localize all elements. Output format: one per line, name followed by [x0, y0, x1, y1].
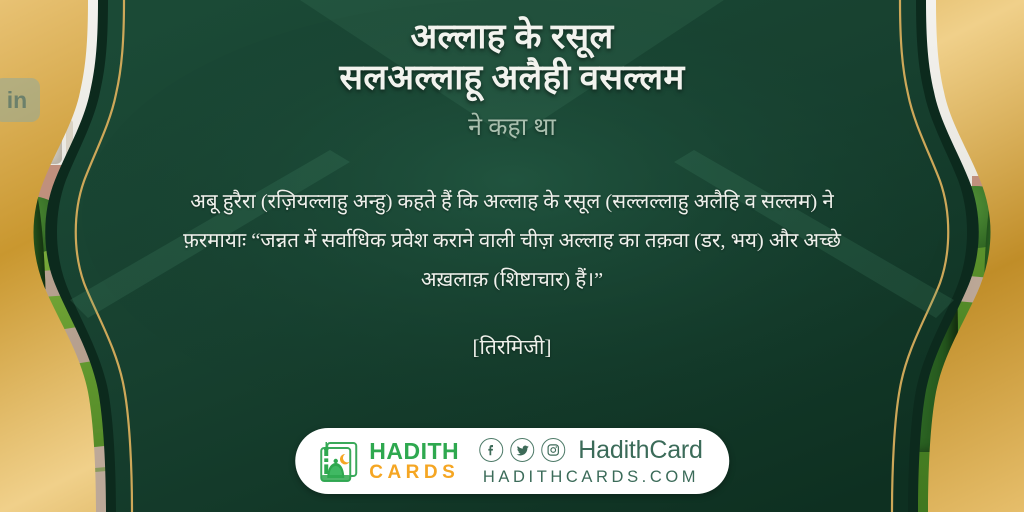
hadith-body-text: अबू हुरैरा (रज़ियल्लाहु अन्हु) कहते हैं …	[172, 183, 852, 301]
logo-wordmark: HADITH CARDS	[369, 440, 459, 482]
social-and-site-block: HadithCard HADITHCARDS.COM	[479, 436, 702, 487]
linkedin-watermark-icon: in	[0, 78, 40, 122]
social-links-row[interactable]: HadithCard	[479, 436, 702, 465]
logo-word-cards: CARDS	[369, 463, 459, 482]
website-url-label[interactable]: HADITHCARDS.COM	[483, 468, 699, 487]
title-line-2: सलअल्लाहू अलैही वसल्लम	[339, 57, 684, 98]
instagram-icon[interactable]	[541, 438, 565, 462]
hadithcards-logo[interactable]: HADITH CARDS	[315, 440, 459, 482]
logo-word-hadith: HADITH	[369, 440, 459, 463]
page-title: अल्लाह के रसूल सलअल्लाहू अलैही वसल्लम	[339, 16, 684, 99]
footer-branding-bar[interactable]: HADITH CARDS	[295, 428, 729, 494]
hadith-source-reference: [तिरमिजी]	[472, 333, 551, 361]
hadith-card: अल्लाह के रसूल सलअल्लाहू अलैही वसल्लम ने…	[0, 0, 1024, 512]
mosque-logo-icon	[315, 440, 361, 482]
title-line-1: अल्लाह के रसूल	[411, 17, 614, 56]
facebook-icon[interactable]	[479, 438, 503, 462]
linkedin-watermark-label: in	[7, 87, 27, 114]
twitter-icon[interactable]	[510, 438, 534, 462]
subtitle: ने कहा था	[468, 109, 556, 143]
brand-name-label: HadithCard	[578, 436, 702, 465]
